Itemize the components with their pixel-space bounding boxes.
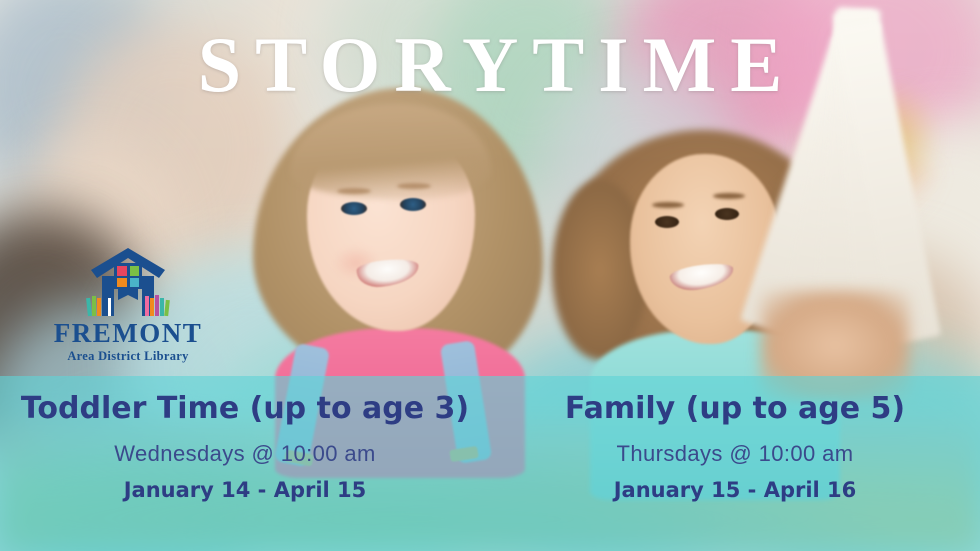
- program-date-range: January 15 - April 16: [490, 478, 980, 503]
- child-eye: [341, 202, 367, 215]
- photo-child-center: [245, 70, 545, 400]
- schedule-column-toddler: Toddler Time (up to age 3) Wednesdays @ …: [0, 376, 490, 551]
- child-eyebrow: [337, 188, 371, 194]
- poster-title: STORYTIME: [0, 26, 980, 104]
- schedule-column-family: Family (up to age 5) Thursdays @ 10:00 a…: [490, 376, 980, 551]
- program-schedule: Thursdays @ 10:00 am: [490, 441, 980, 467]
- logo-name: FREMONT: [38, 320, 218, 347]
- logo-subtitle: Area District Library: [38, 350, 218, 363]
- library-logo: FREMONT Area District Library: [38, 246, 218, 363]
- program-schedule: Wednesdays @ 10:00 am: [0, 441, 490, 467]
- child-eye: [400, 198, 426, 211]
- child-eye: [655, 216, 679, 228]
- storytime-poster: STORYTIME: [0, 0, 980, 551]
- child-eyebrow: [652, 202, 684, 208]
- program-date-range: January 14 - April 15: [0, 478, 490, 503]
- program-title: Family (up to age 5): [490, 392, 980, 427]
- child-eyebrow: [397, 183, 431, 189]
- logo-text-block: FREMONT Area District Library: [38, 320, 218, 363]
- program-title: Toddler Time (up to age 3): [0, 392, 490, 427]
- schedule-banner: Toddler Time (up to age 3) Wednesdays @ …: [0, 376, 980, 551]
- library-house-icon: [85, 246, 171, 318]
